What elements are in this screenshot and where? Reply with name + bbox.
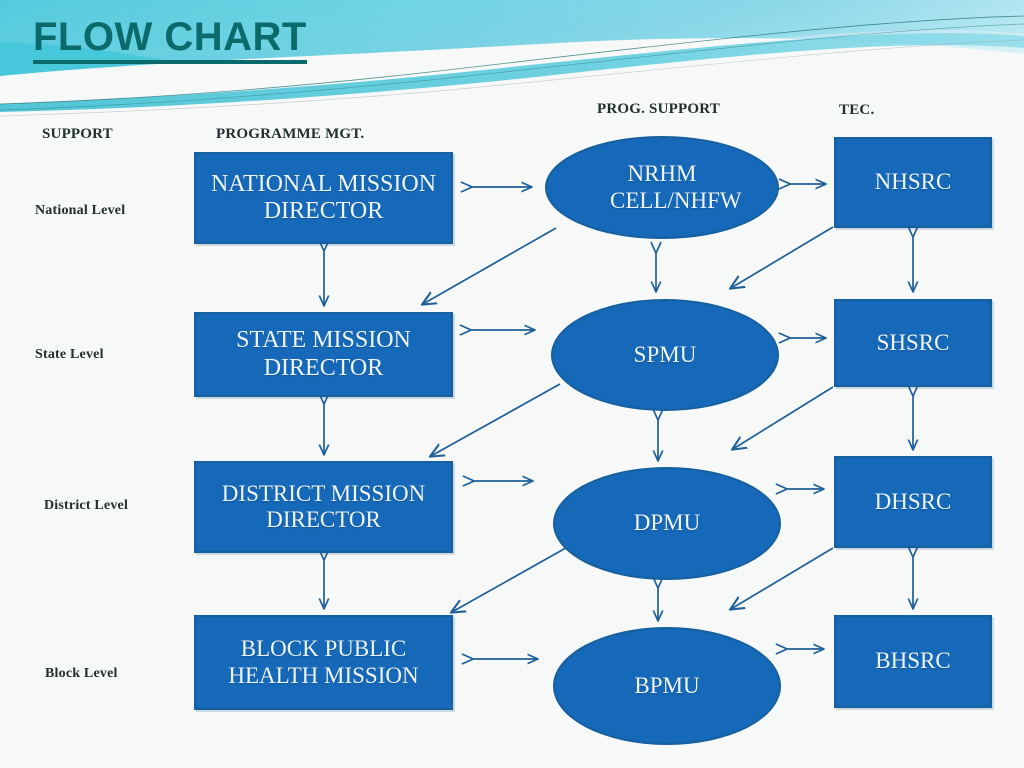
node-label: DPMU xyxy=(628,510,706,536)
row-label-block-level: Block Level xyxy=(45,666,118,682)
node-nhsrc[interactable]: NHSRC xyxy=(834,137,992,228)
row-label-national-level: National Level xyxy=(35,203,125,219)
row-label-state-level: State Level xyxy=(35,347,104,363)
node-label: STATE MISSION DIRECTOR xyxy=(196,327,451,382)
node-label: DISTRICT MISSION DIRECTOR xyxy=(196,481,451,533)
node-label: DHSRC xyxy=(869,489,958,515)
column-caption-prog-support: PROG. SUPPORT xyxy=(597,101,720,118)
node-label: SHSRC xyxy=(871,330,956,356)
column-caption-tec: TEC. xyxy=(839,102,874,119)
node-nrhm-cell-nhfw[interactable]: NRHM CELL/NHFW xyxy=(545,136,779,239)
arrow-nhsrc-to-spmu xyxy=(731,227,833,288)
node-bhsrc[interactable]: BHSRC xyxy=(834,615,992,708)
node-label: NRHM CELL/NHFW xyxy=(604,161,720,213)
node-label: BPMU xyxy=(628,673,705,699)
node-shsrc[interactable]: SHSRC xyxy=(834,299,992,387)
node-spmu[interactable]: SPMU xyxy=(551,299,779,411)
node-dpmu[interactable]: DPMU xyxy=(553,467,781,580)
node-label: SPMU xyxy=(628,342,703,368)
node-label: BLOCK PUBLIC HEALTH MISSION xyxy=(196,636,451,688)
arrow-dpmu-to-bphm xyxy=(452,540,580,612)
page-title: FLOW CHART xyxy=(33,17,307,64)
node-dhsrc[interactable]: DHSRC xyxy=(834,456,992,548)
slide-canvas: FLOW CHART SUPPORT PROGRAMME MGT. PROG. … xyxy=(0,0,1024,768)
node-district-mission-director[interactable]: DISTRICT MISSION DIRECTOR xyxy=(194,461,453,553)
node-bpmu[interactable]: BPMU xyxy=(553,627,781,745)
node-national-mission-director[interactable]: NATIONAL MISSION DIRECTOR xyxy=(194,152,453,244)
column-caption-programme-mgt: PROGRAMME MGT. xyxy=(216,126,364,143)
node-state-mission-director[interactable]: STATE MISSION DIRECTOR xyxy=(194,312,453,397)
column-caption-support: SUPPORT xyxy=(42,126,113,143)
node-label: NATIONAL MISSION DIRECTOR xyxy=(196,171,451,226)
node-label: BHSRC xyxy=(869,648,956,674)
node-label: NHSRC xyxy=(869,169,958,195)
node-block-public-health-mission[interactable]: BLOCK PUBLIC HEALTH MISSION xyxy=(194,615,453,710)
row-label-district-level: District Level xyxy=(44,498,128,514)
arrow-shsrc-to-dpmu xyxy=(733,387,833,449)
